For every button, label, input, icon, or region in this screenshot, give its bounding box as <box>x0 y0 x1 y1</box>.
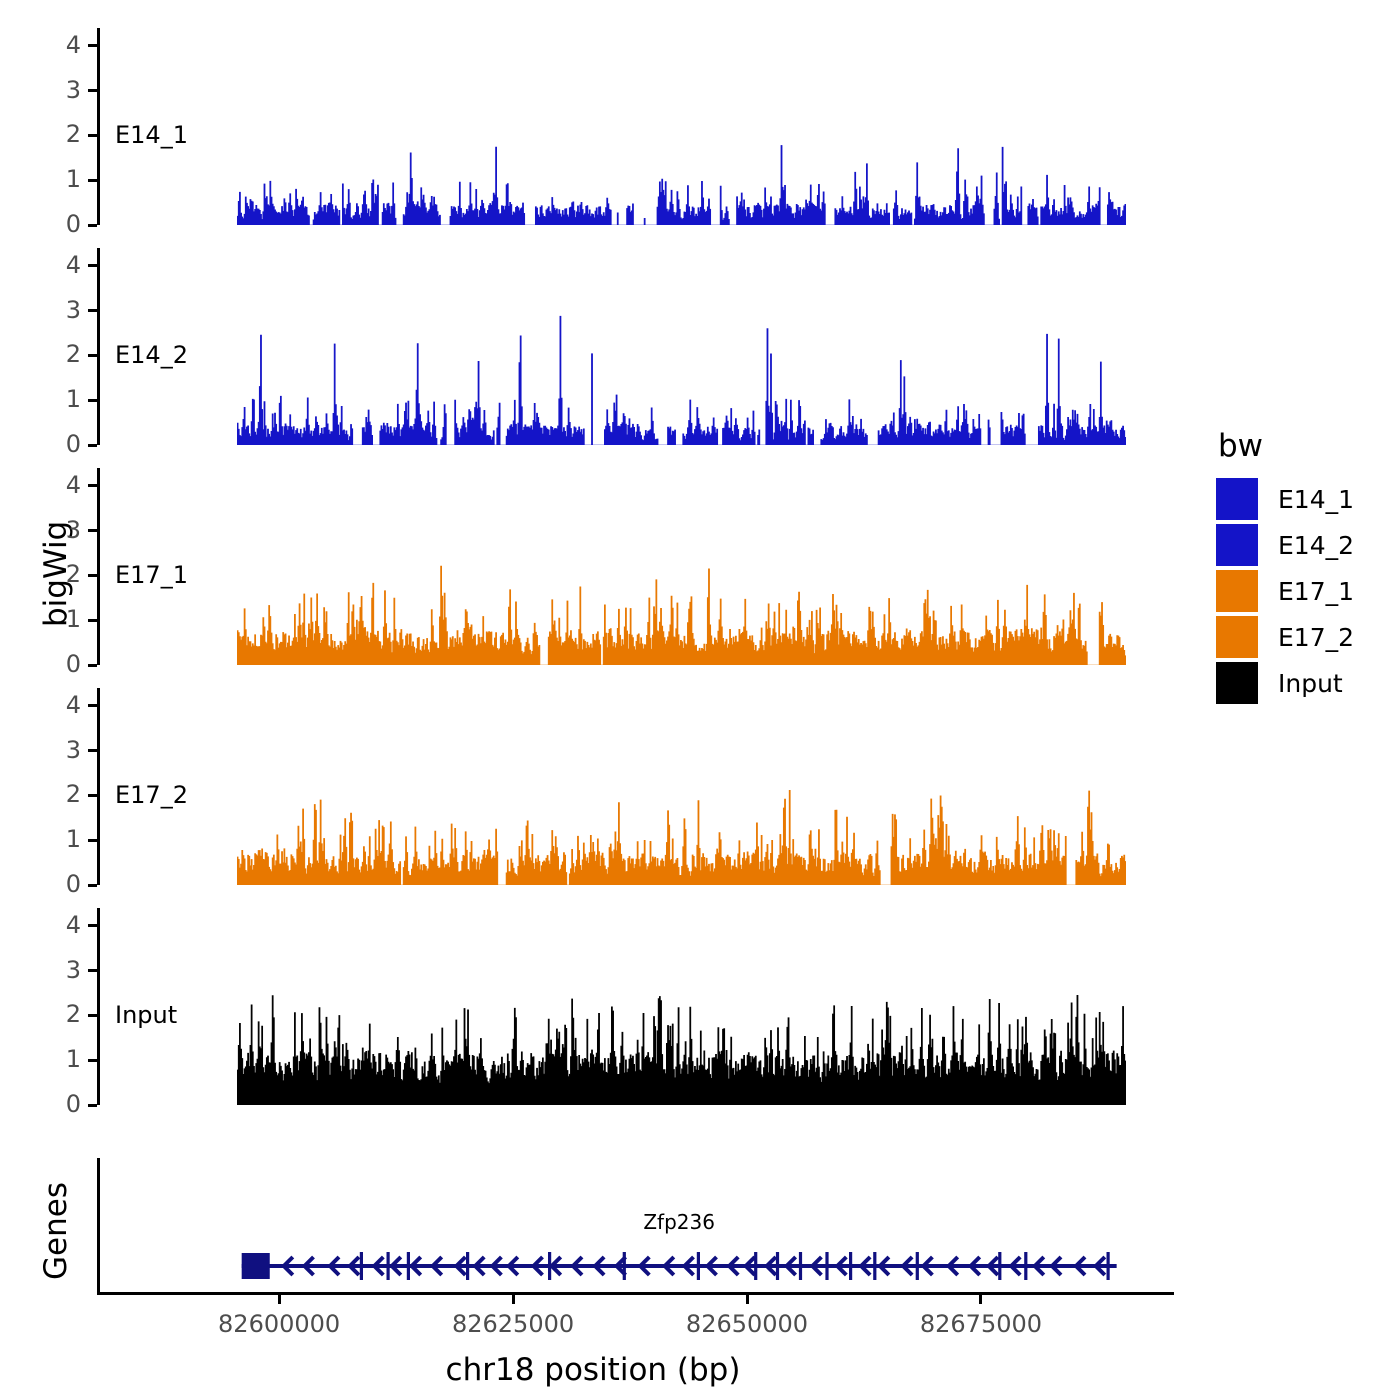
genome-browser-figure: bigWig Genes 01234E14_101234E14_201234E1… <box>0 0 1400 1400</box>
legend-item-e17_1[interactable]: E17_1 <box>1216 568 1354 614</box>
genes-axis-title: Genes <box>38 1182 74 1280</box>
y-tick-label: 1 <box>41 167 81 191</box>
x-tick-mark <box>278 1295 281 1304</box>
y-tick-mark <box>88 399 97 402</box>
y-tick-mark <box>88 664 97 667</box>
y-tick-mark <box>88 749 97 752</box>
y-tick-label: 3 <box>41 298 81 322</box>
signal-area-input <box>237 908 1126 1105</box>
y-tick-mark <box>88 619 97 622</box>
y-tick-label: 0 <box>41 1092 81 1116</box>
track-label-e17_1: E17_1 <box>115 561 188 589</box>
y-tick-label: 1 <box>41 387 81 411</box>
y-tick-label: 2 <box>41 342 81 366</box>
x-axis-title: chr18 position (bp) <box>0 1352 1186 1388</box>
y-tick-label: 2 <box>41 782 81 806</box>
y-axis-line <box>97 688 100 885</box>
y-tick-mark <box>88 264 97 267</box>
y-tick-label: 0 <box>41 212 81 236</box>
signal-area-e14_1 <box>237 28 1126 225</box>
y-tick-label: 4 <box>41 253 81 277</box>
y-tick-mark <box>88 444 97 447</box>
legend-label: E17_2 <box>1278 623 1354 652</box>
y-tick-mark <box>88 309 97 312</box>
track-label-input: Input <box>115 1001 177 1029</box>
legend-label: E14_1 <box>1278 485 1354 514</box>
y-tick-label: 0 <box>41 652 81 676</box>
y-tick-label: 3 <box>41 518 81 542</box>
y-tick-label: 4 <box>41 33 81 57</box>
y-tick-mark <box>88 969 97 972</box>
y-axis-line <box>97 28 100 225</box>
legend-label: Input <box>1278 669 1343 698</box>
x-tick-label: 82600000 <box>218 1310 340 1338</box>
x-tick-label: 82675000 <box>920 1310 1042 1338</box>
signal-area-e17_1 <box>237 468 1126 665</box>
track-panel-e17_2: 01234E17_2 <box>97 688 1136 885</box>
x-tick-mark <box>746 1295 749 1304</box>
y-axis-line <box>97 908 100 1105</box>
y-tick-label: 4 <box>41 913 81 937</box>
y-tick-mark <box>88 354 97 357</box>
track-panel-e14_2: 01234E14_2 <box>97 248 1136 445</box>
y-tick-mark <box>88 794 97 797</box>
y-tick-label: 1 <box>41 1047 81 1071</box>
y-tick-mark <box>88 1059 97 1062</box>
y-tick-mark <box>88 179 97 182</box>
legend: bw E14_1E14_2E17_1E17_2Input <box>1216 428 1354 706</box>
gene-model <box>97 1158 1136 1292</box>
y-tick-label: 4 <box>41 693 81 717</box>
track-panel-e17_1: 01234E17_1 <box>97 468 1136 665</box>
y-tick-mark <box>88 44 97 47</box>
y-tick-mark <box>88 574 97 577</box>
y-tick-mark <box>88 1104 97 1107</box>
y-tick-mark <box>88 704 97 707</box>
y-tick-label: 3 <box>41 738 81 762</box>
y-tick-mark <box>88 224 97 227</box>
legend-swatch-e17_2 <box>1216 616 1258 658</box>
track-panel-input: 01234Input <box>97 908 1136 1105</box>
y-tick-label: 1 <box>41 827 81 851</box>
y-tick-label: 2 <box>41 122 81 146</box>
legend-title: bw <box>1218 428 1354 464</box>
y-tick-mark <box>88 529 97 532</box>
y-tick-mark <box>88 924 97 927</box>
y-tick-label: 3 <box>41 78 81 102</box>
y-tick-label: 2 <box>41 562 81 586</box>
track-panel-e14_1: 01234E14_1 <box>97 28 1136 225</box>
y-tick-label: 0 <box>41 432 81 456</box>
y-tick-mark <box>88 884 97 887</box>
legend-item-e17_2[interactable]: E17_2 <box>1216 614 1354 660</box>
y-tick-label: 0 <box>41 872 81 896</box>
y-tick-label: 2 <box>41 1002 81 1026</box>
y-tick-mark <box>88 1014 97 1017</box>
y-tick-mark <box>88 484 97 487</box>
track-label-e14_2: E14_2 <box>115 341 188 369</box>
y-tick-mark <box>88 134 97 137</box>
legend-items: E14_1E14_2E17_1E17_2Input <box>1216 476 1354 706</box>
y-axis-line <box>97 248 100 445</box>
y-tick-label: 4 <box>41 473 81 497</box>
y-tick-mark <box>88 839 97 842</box>
x-tick-mark <box>979 1295 982 1304</box>
x-tick-mark <box>512 1295 515 1304</box>
track-label-e14_1: E14_1 <box>115 121 188 149</box>
x-tick-label: 82625000 <box>452 1310 574 1338</box>
legend-swatch-e17_1 <box>1216 570 1258 612</box>
legend-label: E17_1 <box>1278 577 1354 606</box>
gene-track-panel: Zfp236 <box>97 1158 1136 1292</box>
y-tick-mark <box>88 89 97 92</box>
track-label-e17_2: E17_2 <box>115 781 188 809</box>
legend-item-e14_2[interactable]: E14_2 <box>1216 522 1354 568</box>
legend-swatch-e14_2 <box>1216 524 1258 566</box>
legend-item-input[interactable]: Input <box>1216 660 1354 706</box>
legend-swatch-e14_1 <box>1216 478 1258 520</box>
y-axis-line <box>97 468 100 665</box>
x-axis-line <box>97 1292 1174 1295</box>
legend-swatch-input <box>1216 662 1258 704</box>
legend-label: E14_2 <box>1278 531 1354 560</box>
y-tick-label: 1 <box>41 607 81 631</box>
signal-area-e17_2 <box>237 688 1126 885</box>
legend-item-e14_1[interactable]: E14_1 <box>1216 476 1354 522</box>
signal-area-e14_2 <box>237 248 1126 445</box>
x-tick-label: 82650000 <box>686 1310 808 1338</box>
y-tick-label: 3 <box>41 958 81 982</box>
